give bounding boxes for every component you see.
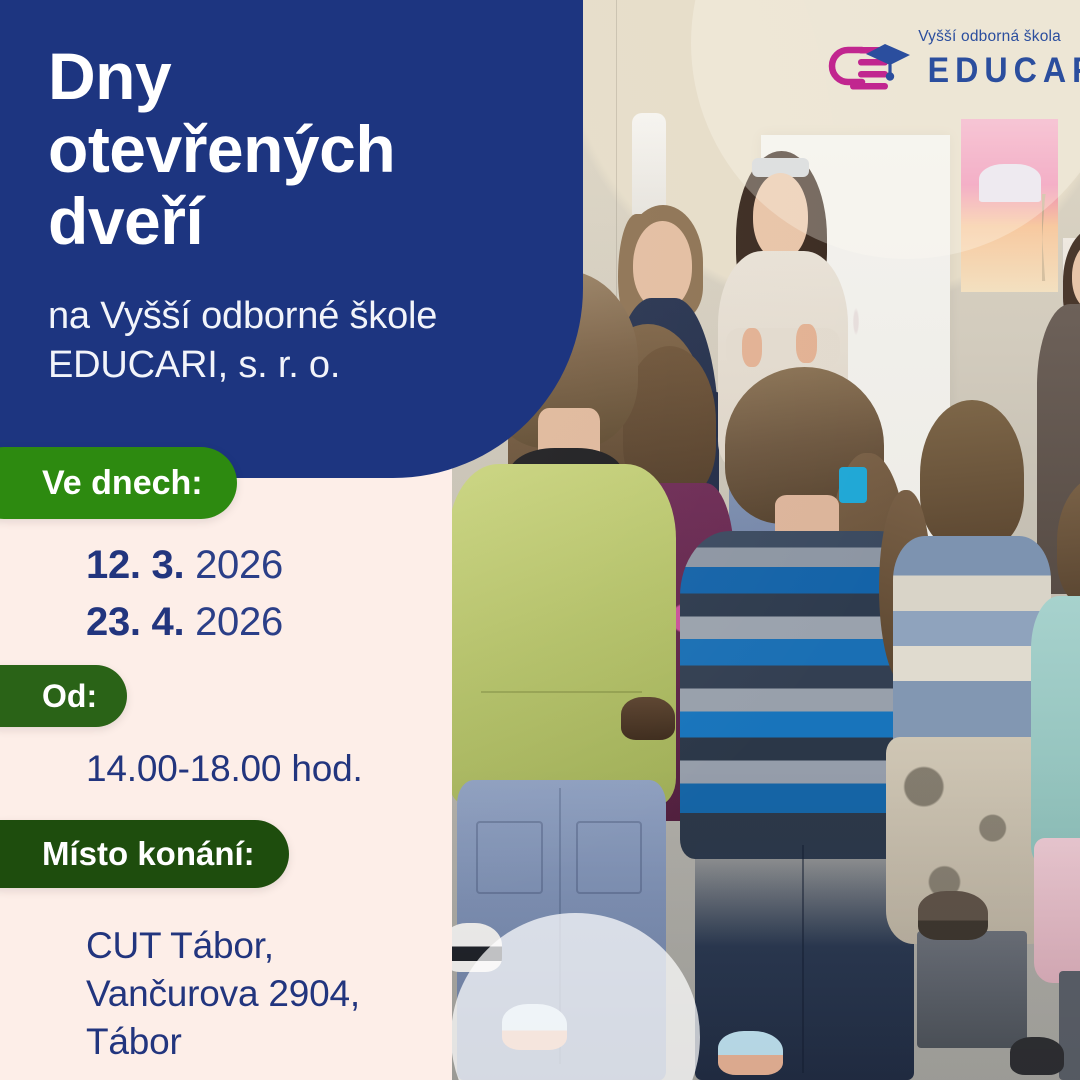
label-from-text: Od: xyxy=(42,678,97,715)
label-pill-place: Místo konání: xyxy=(0,820,289,888)
book-graduation-cap-icon xyxy=(828,42,912,100)
poster: Dny otevřených dveří na Vyšší odborné šk… xyxy=(0,0,1080,1080)
logo-wordmark: Vyšší odborná škola EDUCARI xyxy=(916,28,1062,88)
event-date-row: 23. 4. 2026 xyxy=(86,594,283,651)
event-time: 14.00-18.00 hod. xyxy=(86,748,363,790)
logo-supertitle: Vyšší odborná škola xyxy=(916,28,1062,46)
event-date-daymonth: 12. 3. xyxy=(86,543,184,587)
page-subtitle: na Vyšší odborné škole EDUCARI, s. r. o. xyxy=(48,292,548,389)
page-title-line-3: dveří xyxy=(48,185,528,258)
event-date-daymonth: 23. 4. xyxy=(86,600,184,644)
logo-name: EDUCARI xyxy=(928,53,1062,88)
label-place-text: Místo konání: xyxy=(42,835,255,873)
event-date-year: 2026 xyxy=(195,543,283,587)
event-place-line-1: CUT Tábor, xyxy=(86,922,360,970)
label-pill-from: Od: xyxy=(0,665,127,727)
event-place-line-2: Vančurova 2904, xyxy=(86,970,360,1018)
page-title: Dny otevřených dveří xyxy=(48,40,528,258)
event-dates: 12. 3. 2026 23. 4. 2026 xyxy=(86,537,283,651)
event-date-row: 12. 3. 2026 xyxy=(86,537,283,594)
page-title-line-1: Dny xyxy=(48,40,528,113)
event-place: CUT Tábor, Vančurova 2904, Tábor xyxy=(86,922,360,1066)
event-place-line-3: Tábor xyxy=(86,1018,360,1066)
educari-logo[interactable]: Vyšší odborná škola EDUCARI xyxy=(828,28,1060,106)
label-pill-days: Ve dnech: xyxy=(0,447,237,519)
page-subtitle-line-2: EDUCARI, s. r. o. xyxy=(48,341,548,390)
page-subtitle-line-1: na Vyšší odborné škole xyxy=(48,292,548,341)
page-title-line-2: otevřených xyxy=(48,113,528,186)
event-date-year: 2026 xyxy=(195,600,283,644)
label-days-text: Ve dnech: xyxy=(42,464,203,503)
